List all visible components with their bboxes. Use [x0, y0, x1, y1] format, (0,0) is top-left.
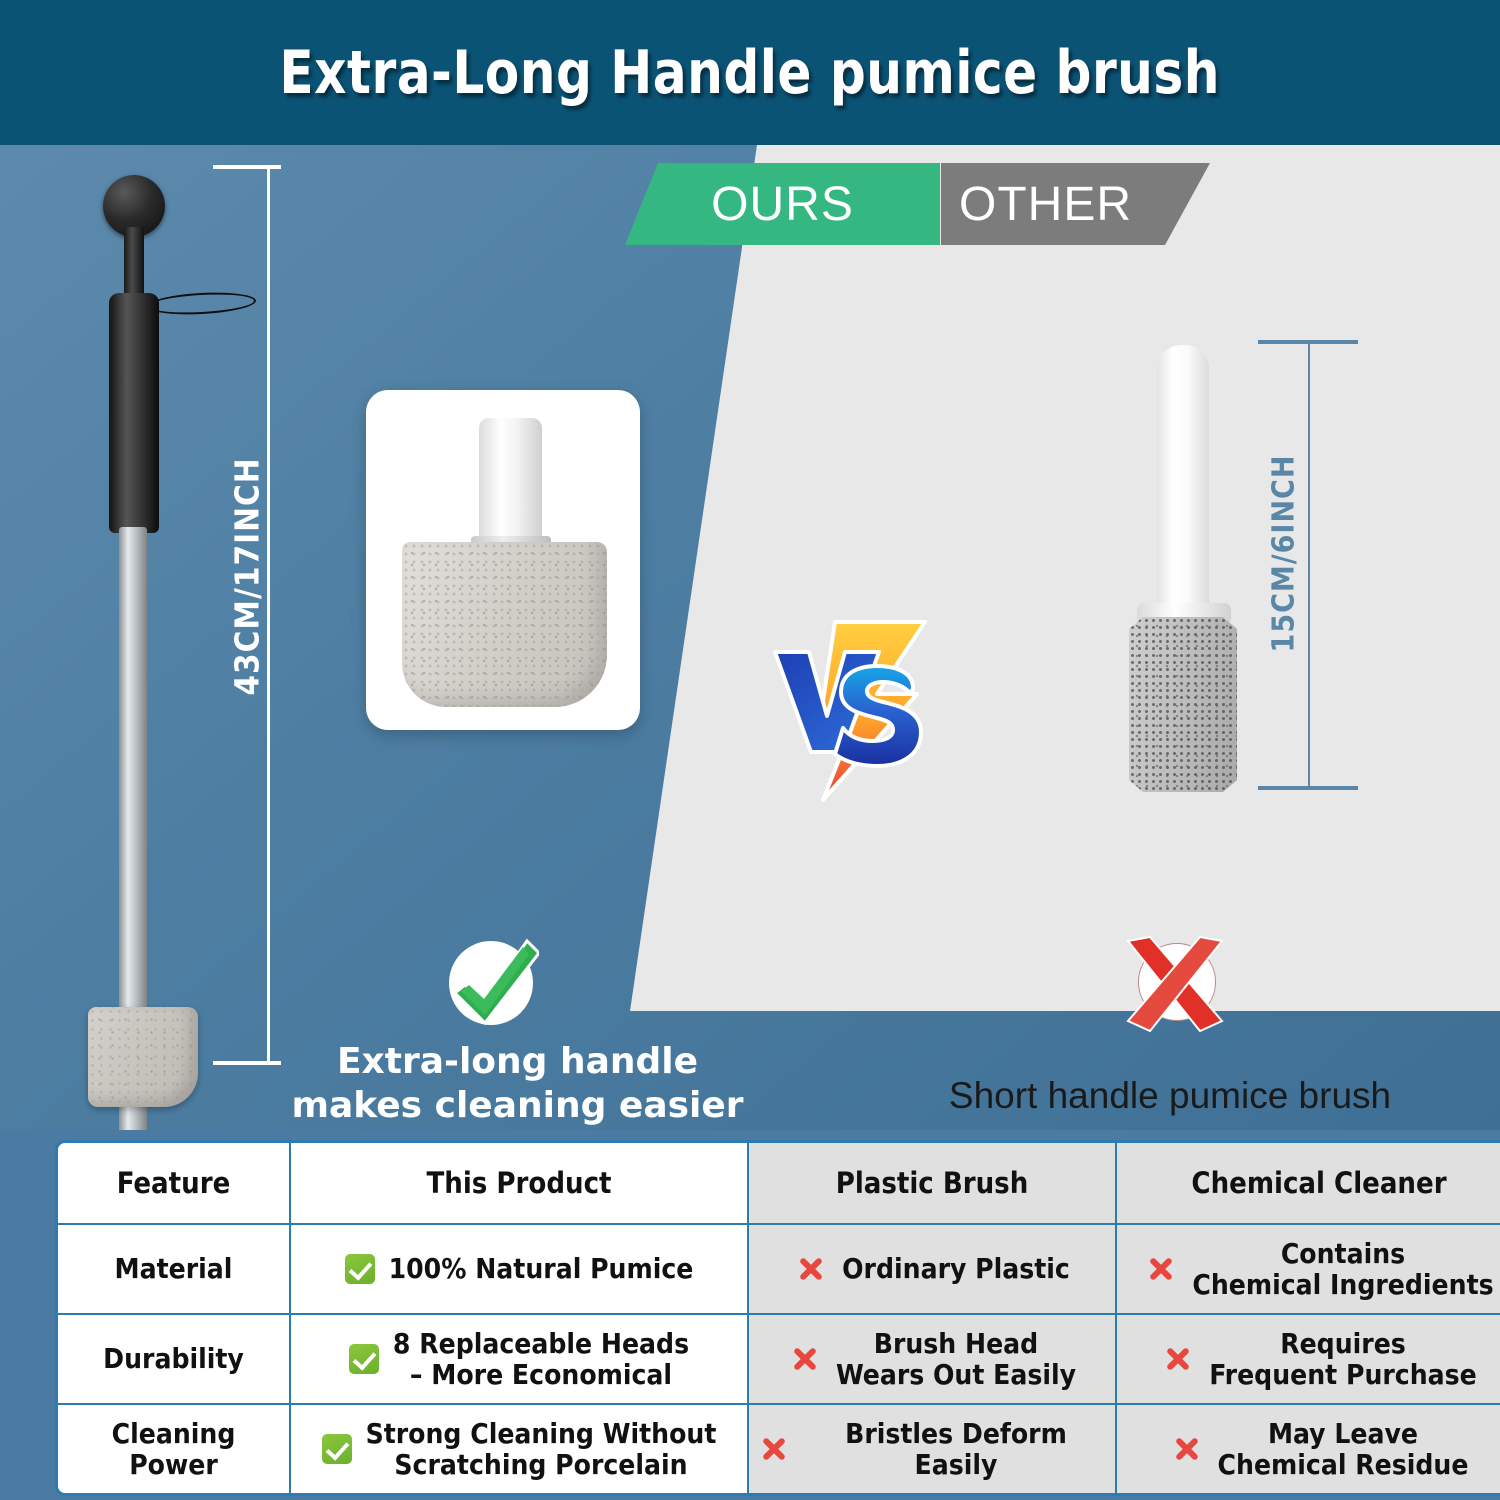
ours-caption: Extra-long handle makes cleaning easier … — [285, 1040, 750, 1130]
row-chemical-cell: May LeaveChemical Residue — [1117, 1405, 1500, 1493]
row-this-product-text: 8 Replaceable Heads– More Economical — [393, 1328, 689, 1391]
other-dimension-line: 15CM/6INCH — [1258, 340, 1338, 790]
banner-other-label: OTHER — [959, 177, 1132, 232]
dimension-vertical-line — [1308, 340, 1310, 790]
dimension-cap-top — [213, 165, 281, 169]
row-chemical-text: ContainsChemical Ingredients — [1192, 1238, 1493, 1301]
check-icon — [345, 1254, 375, 1284]
banner-ours: OURS — [625, 163, 940, 245]
product-photo-card — [366, 390, 640, 730]
table-header-row: Feature This Product Plastic Brush Chemi… — [58, 1143, 1500, 1225]
header-chemical-cleaner: Chemical Cleaner — [1117, 1143, 1500, 1225]
header-plastic-brush: Plastic Brush — [749, 1143, 1117, 1225]
comparison-panel: OURS OTHER 43CM/17INCH — [0, 145, 1500, 1130]
vs-logo — [765, 610, 940, 810]
short-brush-handle — [1157, 345, 1209, 610]
cross-icon — [788, 1342, 822, 1376]
long-handle-brush-image — [75, 175, 225, 1105]
infographic-page: Extra-Long Handle pumice brush OURS OTHE… — [0, 0, 1500, 1500]
row-chemical-cell: RequiresFrequent Purchase — [1117, 1315, 1500, 1405]
cross-icon — [1170, 1432, 1204, 1466]
cross-icon — [794, 1252, 828, 1286]
row-plastic-text: Brush HeadWears Out Easily — [836, 1328, 1076, 1391]
row-plastic-text: Ordinary Plastic — [842, 1253, 1070, 1284]
cross-icon — [1161, 1342, 1195, 1376]
ours-dimension-label: 43CM/17INCH — [228, 457, 267, 697]
dimension-cap-bottom — [1258, 786, 1358, 790]
short-handle-brush-image — [1115, 345, 1245, 920]
comparison-table: Feature This Product Plastic Brush Chemi… — [55, 1140, 1500, 1496]
header-this-product: This Product — [291, 1143, 749, 1225]
short-brush-pumice-block — [1129, 617, 1237, 792]
row-plastic-cell: Brush HeadWears Out Easily — [749, 1315, 1117, 1405]
dimension-vertical-line — [267, 165, 270, 1065]
red-cross-icon — [1120, 935, 1230, 1035]
row-this-product-cell: 100% Natural Pumice — [291, 1225, 749, 1315]
row-feature-label: Cleaning Power — [58, 1405, 291, 1493]
row-this-product-text: Strong Cleaning WithoutScratching Porcel… — [366, 1418, 717, 1481]
ours-dimension-line: 43CM/17INCH — [205, 165, 285, 1065]
product-pumice-block — [402, 542, 607, 707]
brush-grip — [109, 293, 159, 533]
page-title: Extra-Long Handle pumice brush — [280, 38, 1221, 108]
cross-icon — [1144, 1252, 1178, 1286]
row-this-product-text: 100% Natural Pumice — [389, 1253, 694, 1284]
other-caption: Short handle pumice brush — [880, 1075, 1460, 1117]
row-plastic-cell: Ordinary Plastic — [749, 1225, 1117, 1315]
cross-icon — [757, 1432, 791, 1466]
pumice-head — [88, 1007, 198, 1107]
row-plastic-text: Bristles Deform Easily — [805, 1418, 1107, 1481]
table-row: Cleaning Power Strong Cleaning WithoutSc… — [58, 1405, 1500, 1493]
other-dimension-label: 15CM/6INCH — [1267, 454, 1302, 654]
row-chemical-text: RequiresFrequent Purchase — [1209, 1328, 1477, 1391]
table-row: Durability 8 Replaceable Heads– More Eco… — [58, 1315, 1500, 1405]
check-icon — [349, 1344, 379, 1374]
row-chemical-text: May LeaveChemical Residue — [1218, 1418, 1469, 1481]
green-check-icon — [443, 935, 539, 1031]
row-this-product-cell: 8 Replaceable Heads– More Economical — [291, 1315, 749, 1405]
brush-neck — [124, 227, 144, 297]
row-feature-label: Durability — [58, 1315, 291, 1405]
row-this-product-cell: Strong Cleaning WithoutScratching Porcel… — [291, 1405, 749, 1493]
banner-other: OTHER — [941, 163, 1210, 245]
table-row: Material 100% Natural Pumice Ordinary Pl… — [58, 1225, 1500, 1315]
header-feature: Feature — [58, 1143, 291, 1225]
dimension-cap-bottom — [213, 1061, 281, 1065]
ours-other-banner: OURS OTHER — [625, 163, 1210, 245]
row-chemical-cell: ContainsChemical Ingredients — [1117, 1225, 1500, 1315]
check-icon — [322, 1434, 352, 1464]
product-plastic-cap — [479, 418, 542, 543]
header-banner: Extra-Long Handle pumice brush — [0, 0, 1500, 145]
row-feature-label: Material — [58, 1225, 291, 1315]
row-plastic-cell: Bristles Deform Easily — [749, 1405, 1117, 1493]
banner-ours-label: OURS — [711, 177, 854, 232]
